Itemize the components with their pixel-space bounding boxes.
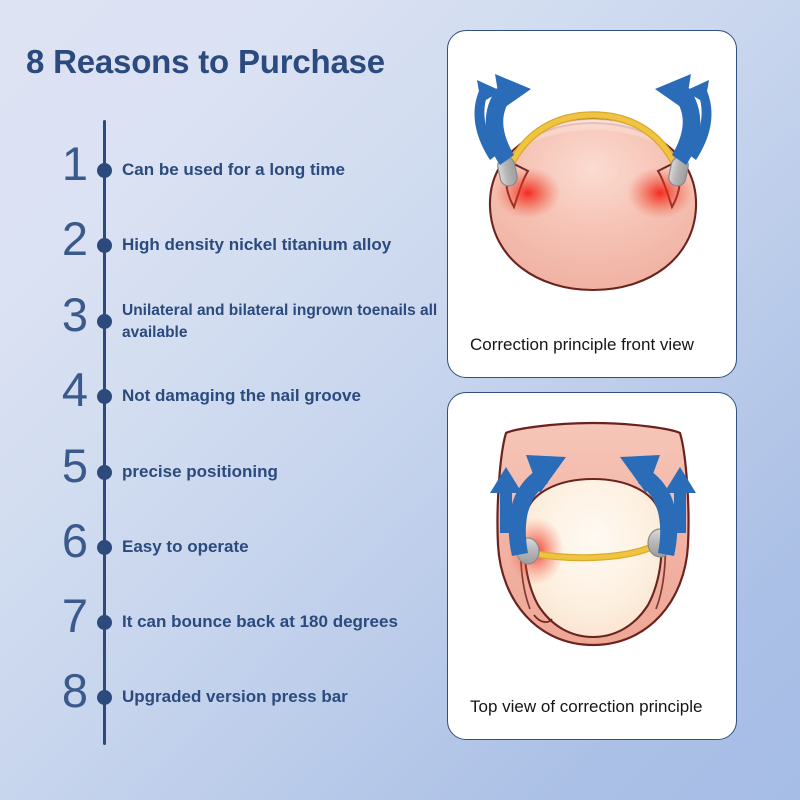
reason-label: Unilateral and bilateral ingrown toenail… (122, 300, 442, 344)
reason-label: Easy to operate (122, 536, 442, 558)
timeline-dot (97, 314, 112, 329)
reason-number: 1 (40, 140, 88, 187)
timeline-dot (97, 615, 112, 630)
card-caption: Top view of correction principle (470, 697, 702, 717)
reason-number: 5 (40, 442, 88, 489)
illustration-card-top-view: Top view of correction principle (447, 392, 737, 740)
reason-label: Not damaging the nail groove (122, 385, 442, 407)
reason-label: Can be used for a long time (122, 159, 442, 181)
reason-number: 8 (40, 667, 88, 714)
timeline-dot (97, 163, 112, 178)
reason-number: 7 (40, 592, 88, 639)
timeline-dot (97, 690, 112, 705)
reason-label: precise positioning (122, 461, 442, 483)
card-caption: Correction principle front view (470, 335, 694, 355)
timeline-dot (97, 465, 112, 480)
reason-number: 6 (40, 517, 88, 564)
reason-label: Upgraded version press bar (122, 686, 442, 708)
reason-number: 2 (40, 215, 88, 262)
toe-front-view-illustration (448, 31, 737, 331)
reason-label: High density nickel titanium alloy (122, 234, 442, 256)
timeline-dot (97, 238, 112, 253)
reason-label: It can bounce back at 180 degrees (122, 611, 442, 633)
reasons-column: 8 Reasons to Purchase 1 Can be used for … (0, 0, 448, 800)
reasons-list: 1 Can be used for a long time 2 High den… (0, 0, 448, 800)
reason-number: 4 (40, 366, 88, 413)
toe-top-view-illustration (448, 393, 737, 693)
infographic-page: 8 Reasons to Purchase 1 Can be used for … (0, 0, 800, 800)
reason-number: 3 (40, 291, 88, 338)
timeline-dot (97, 540, 112, 555)
timeline-dot (97, 389, 112, 404)
illustration-card-front-view: Correction principle front view (447, 30, 737, 378)
